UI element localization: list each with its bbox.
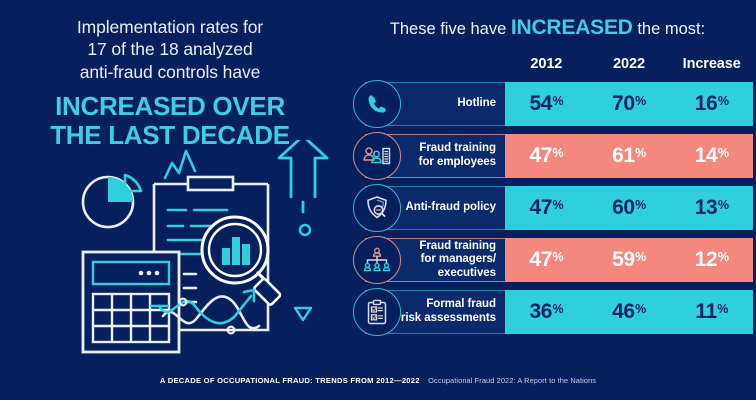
value-2012: 47% xyxy=(505,196,588,220)
percent-sign: % xyxy=(635,198,646,212)
row-label-line: risk assessments xyxy=(401,312,496,326)
value-2012: 36% xyxy=(505,300,588,324)
percent-sign: % xyxy=(553,250,564,264)
phone-icon xyxy=(353,80,401,128)
employees-training-icon xyxy=(353,132,401,180)
percent-sign: % xyxy=(718,198,729,212)
row-values: 47% 59% 12% xyxy=(505,238,753,282)
pie-chart-icon xyxy=(83,175,141,227)
value-increase: 11% xyxy=(670,300,753,324)
value-2022: 70% xyxy=(588,92,671,116)
percent-sign: % xyxy=(635,302,646,316)
value-2022: 46% xyxy=(588,300,671,324)
value-increase: 14% xyxy=(670,144,753,168)
percent-sign: % xyxy=(635,94,646,108)
zigzag-line-icon xyxy=(165,151,195,178)
circle-accent-icon xyxy=(300,225,310,235)
table-row: Hotline 54% 70% 16% xyxy=(353,82,756,126)
right-title-highlight: INCREASED xyxy=(511,16,633,39)
percent-sign: % xyxy=(635,250,646,264)
percent-sign: % xyxy=(718,250,729,264)
footer: A DECADE OF OCCUPATIONAL FRAUD: TRENDS F… xyxy=(0,370,756,388)
column-headers: 2012 2022 Increase xyxy=(505,56,753,72)
headline-emphasis-line-1: INCREASED OVER xyxy=(0,92,340,121)
percent-sign: % xyxy=(717,302,728,316)
shield-magnifier-icon xyxy=(353,184,401,232)
clipboard-checklist-icon xyxy=(353,288,401,336)
left-panel: Implementation rates for 17 of the 18 an… xyxy=(0,0,340,370)
right-panel: These five have INCREASED the most: 2012… xyxy=(345,0,756,370)
table-row: Formal fraud risk assessments 36% 46% 11… xyxy=(353,290,756,334)
headline-lead-line-2: 17 of the 18 analyzed xyxy=(0,38,340,60)
value-2012: 54% xyxy=(505,92,588,116)
table-row: Fraud training for managers/ executives … xyxy=(353,238,756,282)
row-label-line: Formal fraud xyxy=(401,298,496,312)
controls-table: Hotline 54% 70% 16% Fraud xyxy=(353,82,756,342)
headline-lead: Implementation rates for 17 of the 18 an… xyxy=(0,16,340,83)
row-label-line: executives xyxy=(419,267,496,281)
value-increase: 12% xyxy=(670,248,753,272)
row-label-line: Fraud training xyxy=(419,142,496,156)
row-label-line: Fraud training xyxy=(419,240,496,254)
value-2012: 47% xyxy=(505,248,588,272)
percent-sign: % xyxy=(553,94,564,108)
right-panel-title: These five have INCREASED the most: xyxy=(345,16,750,40)
table-row: Fraud training for employees 47% 61% 14% xyxy=(353,134,756,178)
headline-block: Implementation rates for 17 of the 18 an… xyxy=(0,16,340,150)
percent-sign: % xyxy=(718,146,729,160)
row-label-text: Anti-fraud policy xyxy=(405,201,496,215)
value-increase: 16% xyxy=(670,92,753,116)
percent-sign: % xyxy=(553,198,564,212)
column-header-increase: Increase xyxy=(670,56,753,72)
percent-sign: % xyxy=(718,94,729,108)
percent-sign: % xyxy=(553,302,564,316)
value-2022: 61% xyxy=(588,144,671,168)
column-header-2022: 2022 xyxy=(588,56,671,72)
row-label-line: Hotline xyxy=(457,97,496,111)
row-label-text: Fraud training for employees xyxy=(419,142,496,169)
row-label-text: Formal fraud risk assessments xyxy=(401,298,496,325)
row-values: 54% 70% 16% xyxy=(505,82,753,126)
footer-source: Occupational Fraud 2022: A Report to the… xyxy=(428,376,596,385)
value-2012: 47% xyxy=(505,144,588,168)
row-label-text: Fraud training for managers/ executives xyxy=(419,240,496,281)
row-label-text: Hotline xyxy=(457,97,496,111)
row-label-line: for employees xyxy=(419,156,496,170)
value-2022: 60% xyxy=(588,196,671,220)
row-values: 36% 46% 11% xyxy=(505,290,753,334)
org-chart-icon xyxy=(353,236,401,284)
row-values: 47% 61% 14% xyxy=(505,134,753,178)
right-title-suffix: the most: xyxy=(637,20,705,38)
row-values: 47% 60% 13% xyxy=(505,186,753,230)
value-2022: 59% xyxy=(588,248,671,272)
row-label-line: Anti-fraud policy xyxy=(405,201,496,215)
headline-lead-line-1: Implementation rates for xyxy=(0,16,340,38)
row-label-line: for managers/ xyxy=(419,253,496,267)
table-row: Anti-fraud policy 47% 60% 13% xyxy=(353,186,756,230)
up-arrow-icon xyxy=(279,140,327,212)
column-header-2012: 2012 xyxy=(505,56,588,72)
right-title-prefix: These five have xyxy=(390,20,506,38)
triangle-accent-icon xyxy=(295,308,311,320)
value-increase: 13% xyxy=(670,196,753,220)
headline-lead-line-3: anti-fraud controls have xyxy=(0,61,340,83)
percent-sign: % xyxy=(635,146,646,160)
infographic-canvas: Implementation rates for 17 of the 18 an… xyxy=(0,0,756,400)
calculator-icon xyxy=(83,252,179,352)
percent-sign: % xyxy=(553,146,564,160)
fraud-analytics-illustration xyxy=(55,140,345,360)
footer-title: A DECADE OF OCCUPATIONAL FRAUD: TRENDS F… xyxy=(160,376,420,385)
